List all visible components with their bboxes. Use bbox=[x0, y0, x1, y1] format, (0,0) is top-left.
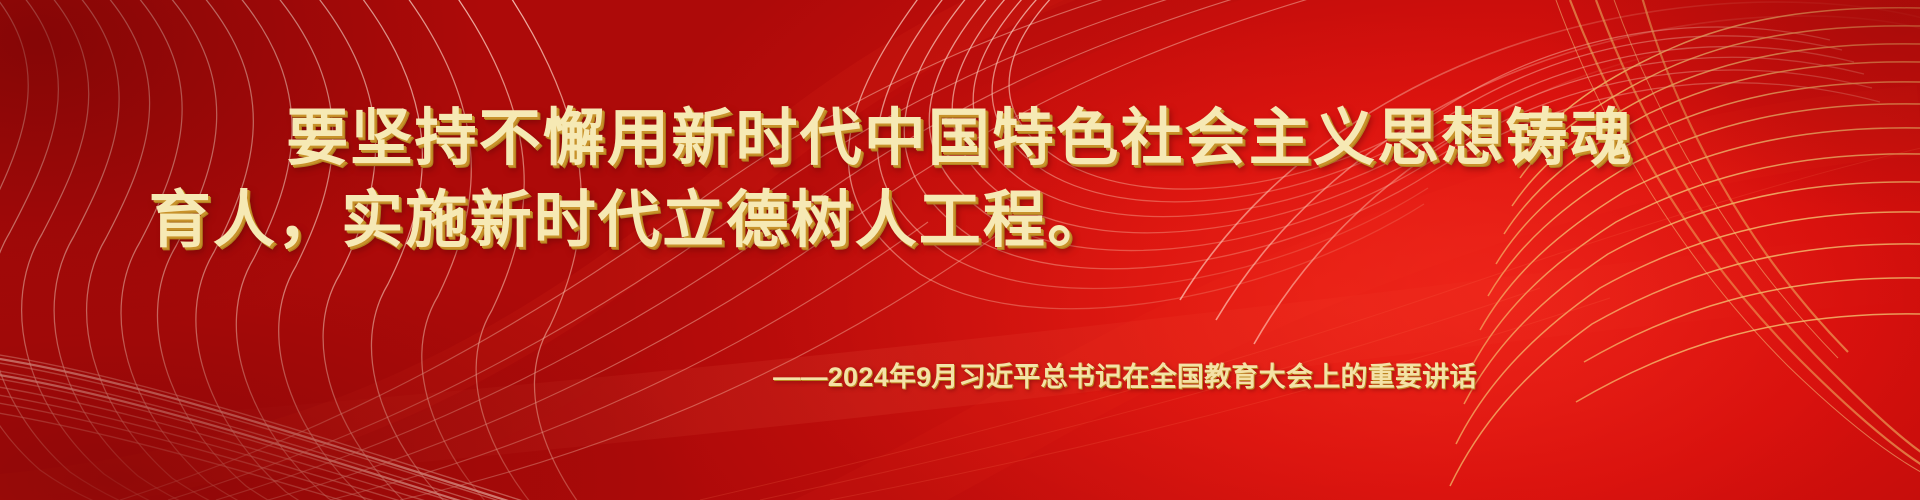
text-block: 要坚持不懈用新时代中国特色社会主义思想铸魂 育人，实施新时代立德树人工程。 ——… bbox=[0, 0, 1920, 500]
headline-line-2: 育人，实施新时代立德树人工程。 bbox=[0, 190, 1920, 252]
headline-line-1: 要坚持不懈用新时代中国特色社会主义思想铸魂 bbox=[0, 108, 1920, 170]
attribution-line: ——2024年9月习近平总书记在全国教育大会上的重要讲话 bbox=[0, 355, 1920, 394]
slogan-banner: 要坚持不懈用新时代中国特色社会主义思想铸魂 育人，实施新时代立德树人工程。 ——… bbox=[0, 0, 1920, 500]
